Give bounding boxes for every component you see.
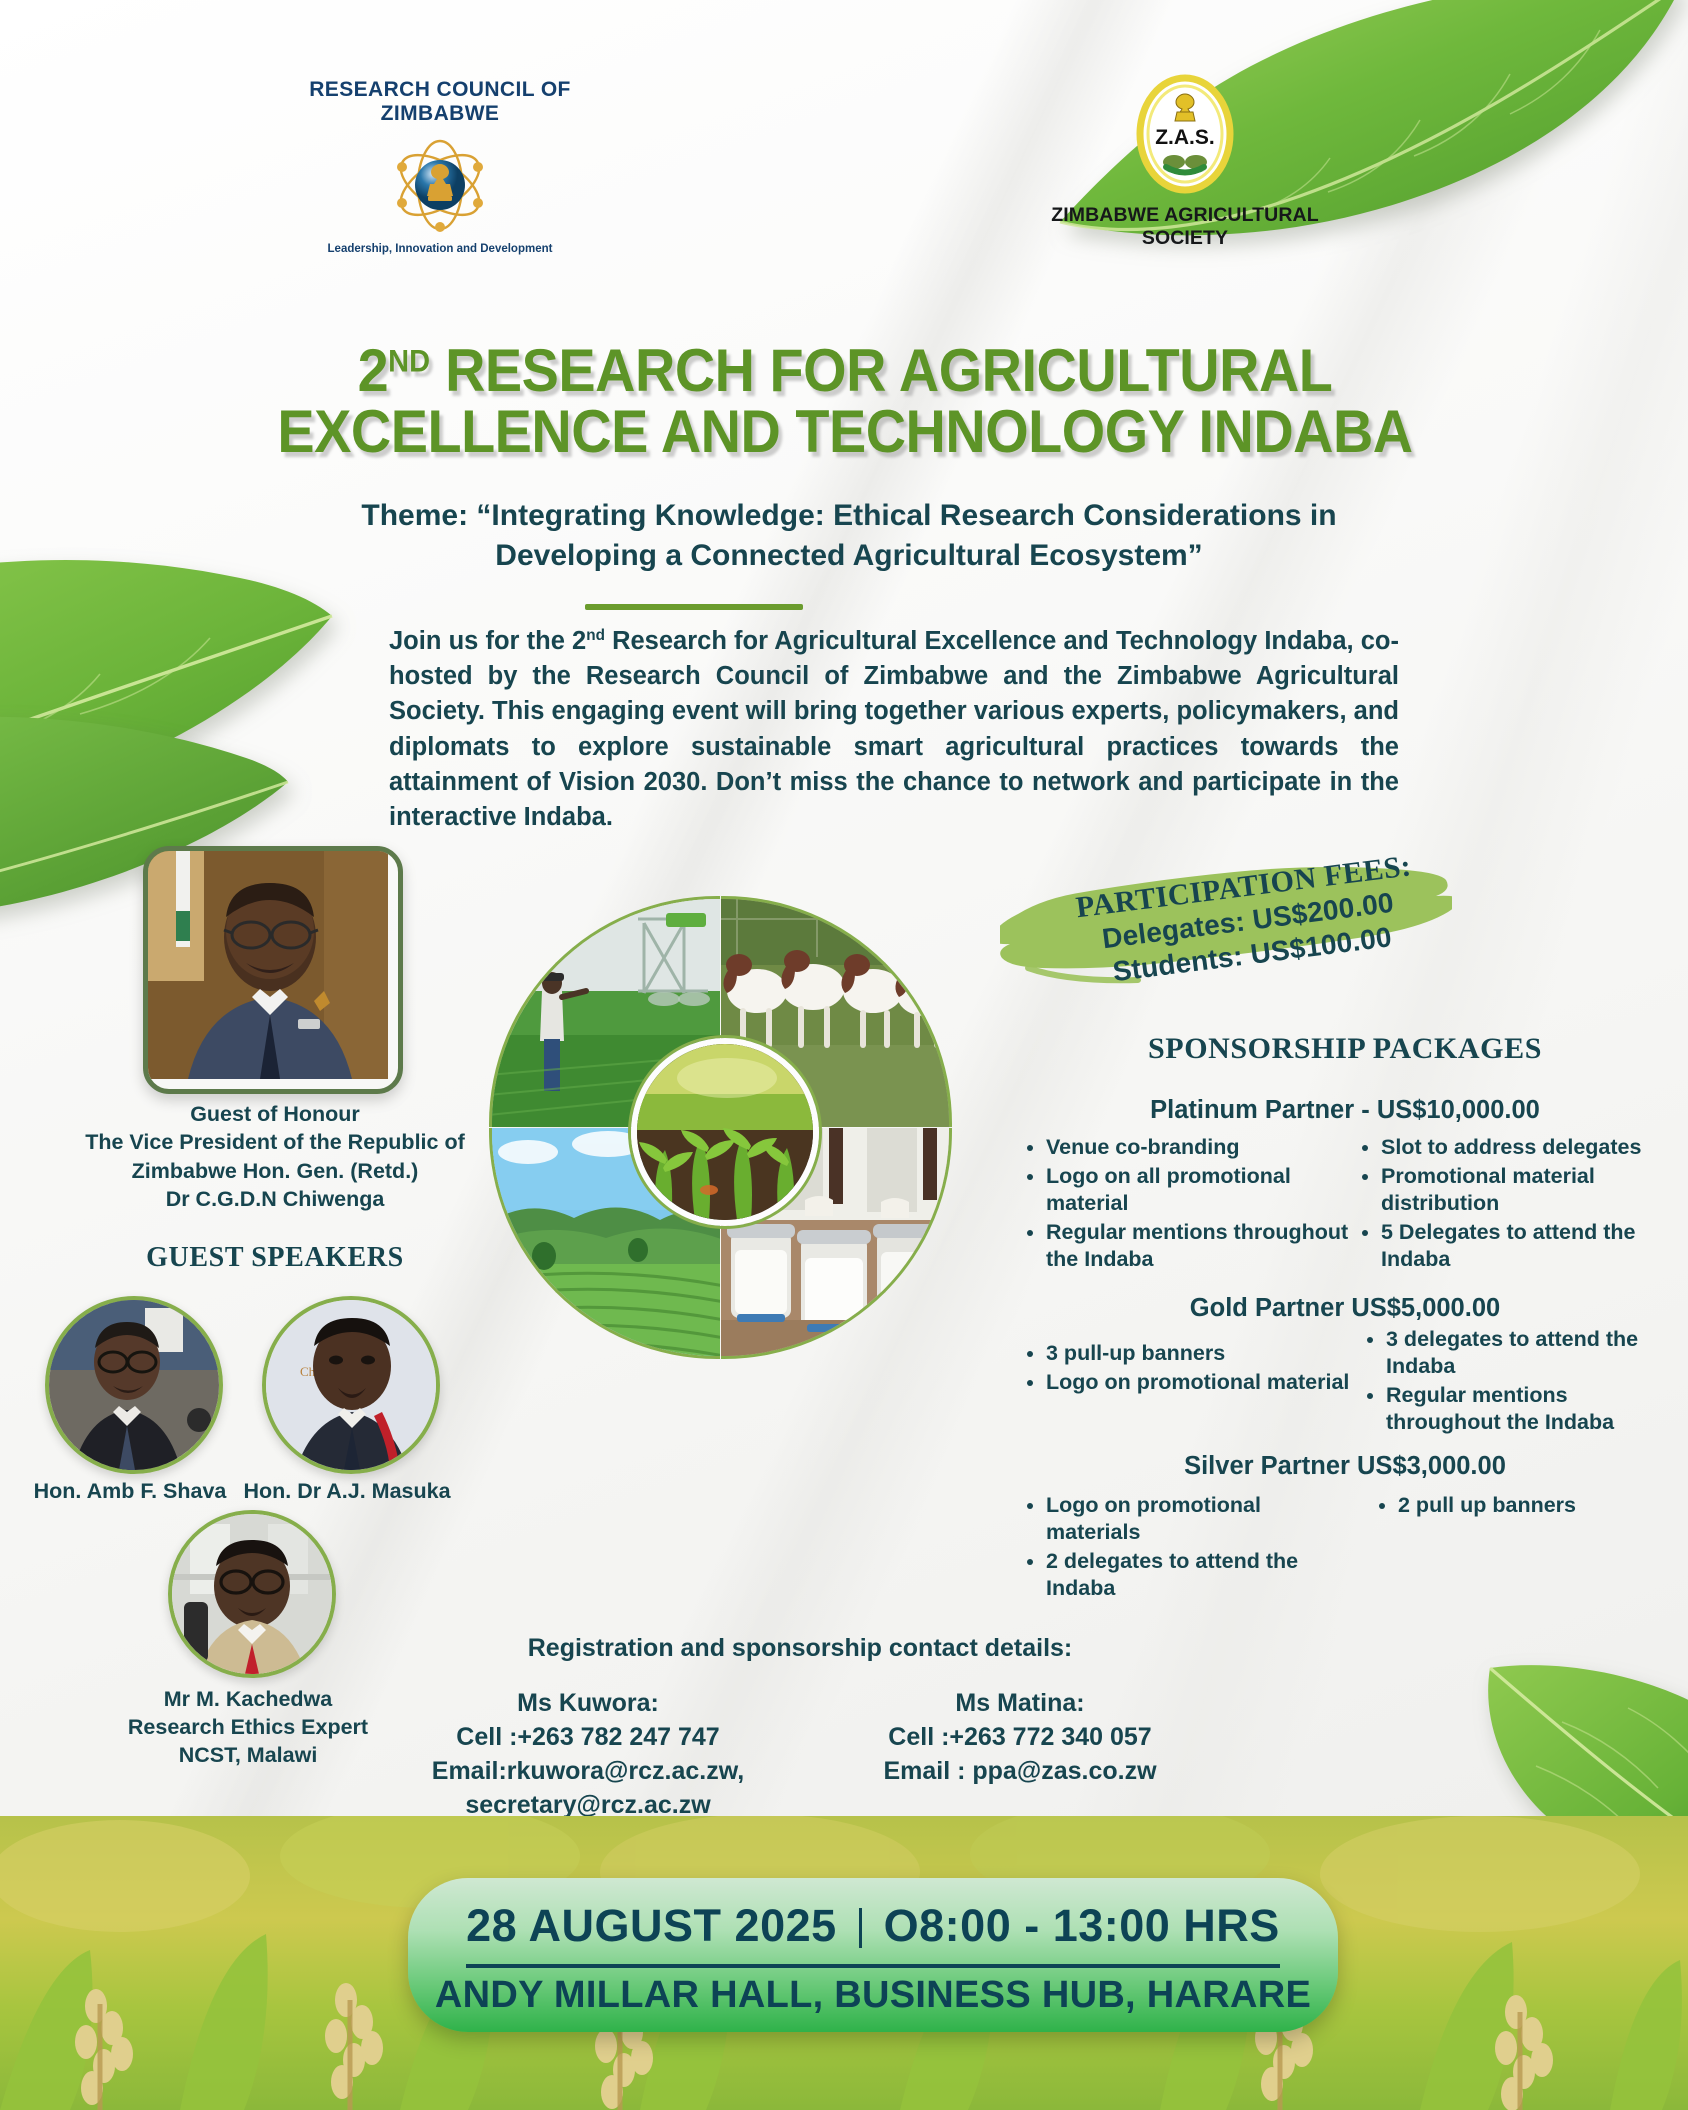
list-item: Regular mentions throughout the Indaba [1386, 1382, 1680, 1436]
speaker-photo-shava [45, 1296, 223, 1474]
list-item: Regular mentions throughout the Indaba [1046, 1219, 1350, 1273]
banner-time: O8:00 - 13:00 HRS [884, 1900, 1280, 1951]
banner-date-time: 28 AUGUST 2025O8:00 - 13:00 HRS [408, 1900, 1338, 1952]
kuwora-email[interactable]: Email:rkuwora@rcz.ac.zw, [388, 1754, 788, 1788]
speaker-name-kachedwa: Mr M. Kachedwa Research Ethics Expert NC… [58, 1686, 438, 1770]
title-line1: RESEARCH FOR AGRICULTURAL EXCELLENCE AND… [277, 337, 1332, 465]
banner-venue: ANDY MILLAR HALL, BUSINESS HUB, HARARE [408, 1974, 1338, 2017]
list-item: Slot to address delegates [1381, 1134, 1675, 1161]
theme-divider [585, 604, 803, 610]
goh-line4: Dr C.G.D.N Chiwenga [40, 1185, 510, 1213]
logo-research-council-zimbabwe: RESEARCH COUNCIL OF ZIMBABWE [250, 78, 630, 255]
list-item: 2 delegates to attend the Indaba [1046, 1548, 1360, 1602]
speaker-name-masuka: Hon. Dr A.J. Masuka [212, 1478, 482, 1506]
collage-center-maize [631, 1038, 819, 1226]
poster-canvas: RESEARCH COUNCIL OF ZIMBABWE [0, 0, 1688, 2110]
participation-fees-badge: PARTICIPATION FEES: Delegates: US$200.00… [1000, 858, 1452, 1010]
zas-name: ZIMBABWE AGRICULTURAL SOCIETY [1025, 204, 1345, 250]
rcz-name: RESEARCH COUNCIL OF ZIMBABWE [250, 78, 630, 126]
goh-line1: Guest of Honour [40, 1100, 510, 1128]
banner-divider [466, 1964, 1280, 1968]
list-item: Venue co-branding [1046, 1134, 1350, 1161]
intro-part2: Research for Agricultural Excellence and… [389, 627, 1399, 831]
contact-block-kuwora: Ms Kuwora: Cell :+263 782 247 747 Email:… [388, 1686, 788, 1822]
goh-line3: Zimbabwe Hon. Gen. (Retd.) [40, 1157, 510, 1185]
speaker-photo-masuka: Chart [262, 1296, 440, 1474]
intro-sup: nd [586, 627, 605, 644]
logo-zimbabwe-agricultural-society: Z.A.S. ZIMBABWE AGRICULTURAL SOCIETY [1025, 72, 1345, 250]
kuwora-cell[interactable]: Cell :+263 782 247 747 [388, 1720, 788, 1754]
title-line2: INDABA [1198, 398, 1412, 465]
event-theme: Theme: “Integrating Knowledge: Ethical R… [344, 496, 1354, 576]
list-item: 2 pull up banners [1398, 1492, 1672, 1519]
tier-benefits-platinum-right: Slot to address delegates Promotional ma… [1355, 1134, 1675, 1275]
event-details-banner: 28 AUGUST 2025O8:00 - 13:00 HRS ANDY MIL… [408, 1878, 1338, 2032]
banner-date: 28 AUGUST 2025 [466, 1900, 837, 1951]
list-item: 3 pull-up banners [1046, 1340, 1360, 1367]
goh-line2: The Vice President of the Republic of [40, 1128, 510, 1156]
tier-benefits-gold-left: 3 pull-up banners Logo on promotional ma… [1020, 1340, 1360, 1398]
tier-benefits-silver-left: Logo on promotional materials 2 delegate… [1020, 1492, 1360, 1604]
list-item: Logo on all promotional material [1046, 1163, 1350, 1217]
tier-benefits-platinum-left: Venue co-branding Logo on all promotiona… [1020, 1134, 1350, 1275]
list-item: 5 Delegates to attend the Indaba [1381, 1219, 1675, 1273]
intro-part1: Join us for the 2 [389, 627, 586, 655]
contact-heading: Registration and sponsorship contact det… [400, 1634, 1200, 1663]
kachedwa-role: Research Ethics Expert [58, 1714, 438, 1742]
list-item: Promotional material distribution [1381, 1163, 1675, 1217]
list-item: Logo on promotional materials [1046, 1492, 1360, 1546]
globe-bird-atom-icon [380, 131, 500, 239]
kuwora-name: Ms Kuwora: [388, 1686, 788, 1720]
matina-cell[interactable]: Cell :+263 772 340 057 [820, 1720, 1220, 1754]
tier-name-silver: Silver Partner US$3,000.00 [1000, 1452, 1688, 1481]
page-title: 2ND RESEARCH FOR AGRICULTURAL EXCELLENCE… [227, 340, 1464, 462]
tier-name-gold: Gold Partner US$5,000.00 [1000, 1294, 1688, 1323]
guest-speakers-heading: GUEST SPEAKERS [40, 1242, 510, 1274]
guest-of-honour-photo [143, 846, 403, 1094]
tier-benefits-silver-right: 2 pull up banners [1372, 1492, 1672, 1521]
contact-block-matina: Ms Matina: Cell :+263 772 340 057 Email … [820, 1686, 1220, 1788]
intro-paragraph: Join us for the 2nd Research for Agricul… [389, 624, 1399, 835]
kachedwa-org: NCST, Malawi [58, 1742, 438, 1770]
list-item: Logo on promotional material [1046, 1369, 1360, 1396]
kachedwa-name: Mr M. Kachedwa [58, 1686, 438, 1714]
oval-bird-crest-icon: Z.A.S. [1130, 72, 1240, 200]
title-ordinal-suffix: ND [388, 344, 430, 379]
matina-email[interactable]: Email : ppa@zas.co.zw [820, 1754, 1220, 1788]
rcz-tagline: Leadership, Innovation and Development [250, 243, 630, 255]
title-ordinal: 2 [358, 337, 389, 404]
matina-name: Ms Matina: [820, 1686, 1220, 1720]
tier-name-platinum: Platinum Partner - US$10,000.00 [1000, 1096, 1688, 1125]
agriculture-photo-collage [489, 896, 949, 1356]
svg-text:Z.A.S.: Z.A.S. [1155, 126, 1215, 149]
list-item: 3 delegates to attend the Indaba [1386, 1326, 1680, 1380]
speaker-photo-kachedwa [168, 1510, 336, 1678]
sponsorship-title: SPONSORSHIP PACKAGES [1000, 1032, 1688, 1066]
tier-benefits-gold-right: 3 delegates to attend the Indaba Regular… [1360, 1326, 1680, 1438]
banner-separator [859, 1908, 862, 1948]
guest-of-honour-caption: Guest of Honour The Vice President of th… [40, 1100, 510, 1214]
